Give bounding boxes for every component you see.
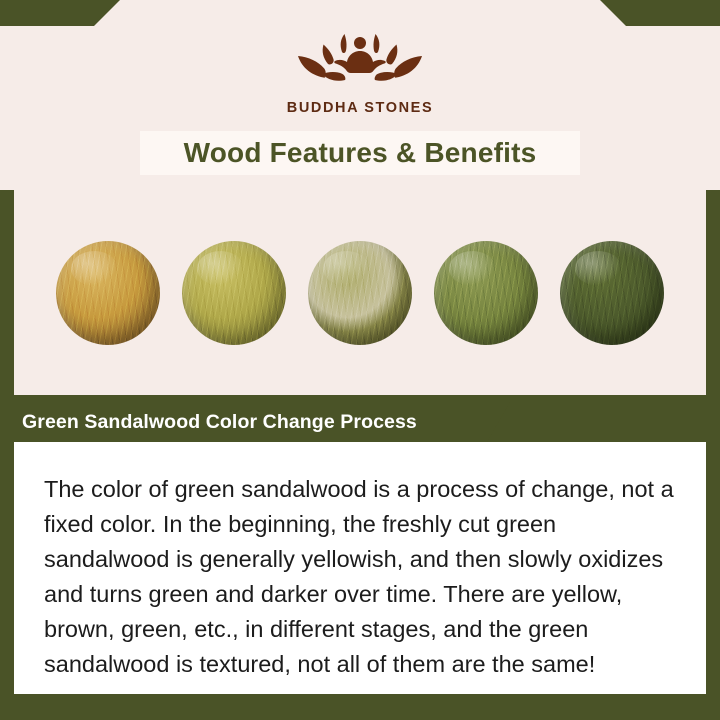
brand-name: BUDDHA STONES <box>287 100 433 116</box>
page-title: Wood Features & Benefits <box>140 131 580 175</box>
bead-stage-5 <box>560 241 664 345</box>
bead-stage-3 <box>308 241 412 345</box>
section-ribbon: Green Sandalwood Color Change Process <box>0 402 510 442</box>
bead-stage-2 <box>182 241 286 345</box>
infographic-page: BUDDHA STONES Wood Features & Benefits G… <box>0 0 720 720</box>
description-card: The color of green sandalwood is a proce… <box>14 442 706 694</box>
brand-logo: BUDDHA STONES <box>0 30 720 116</box>
lotus-meditation-icon <box>290 30 430 96</box>
description-text: The color of green sandalwood is a proce… <box>44 472 680 682</box>
bead-stage-1 <box>56 241 160 345</box>
section-ribbon-title: Green Sandalwood Color Change Process <box>0 411 417 434</box>
page-title-text: Wood Features & Benefits <box>184 137 537 169</box>
bead-stage-4 <box>434 241 538 345</box>
color-swatch-strip <box>14 190 706 395</box>
